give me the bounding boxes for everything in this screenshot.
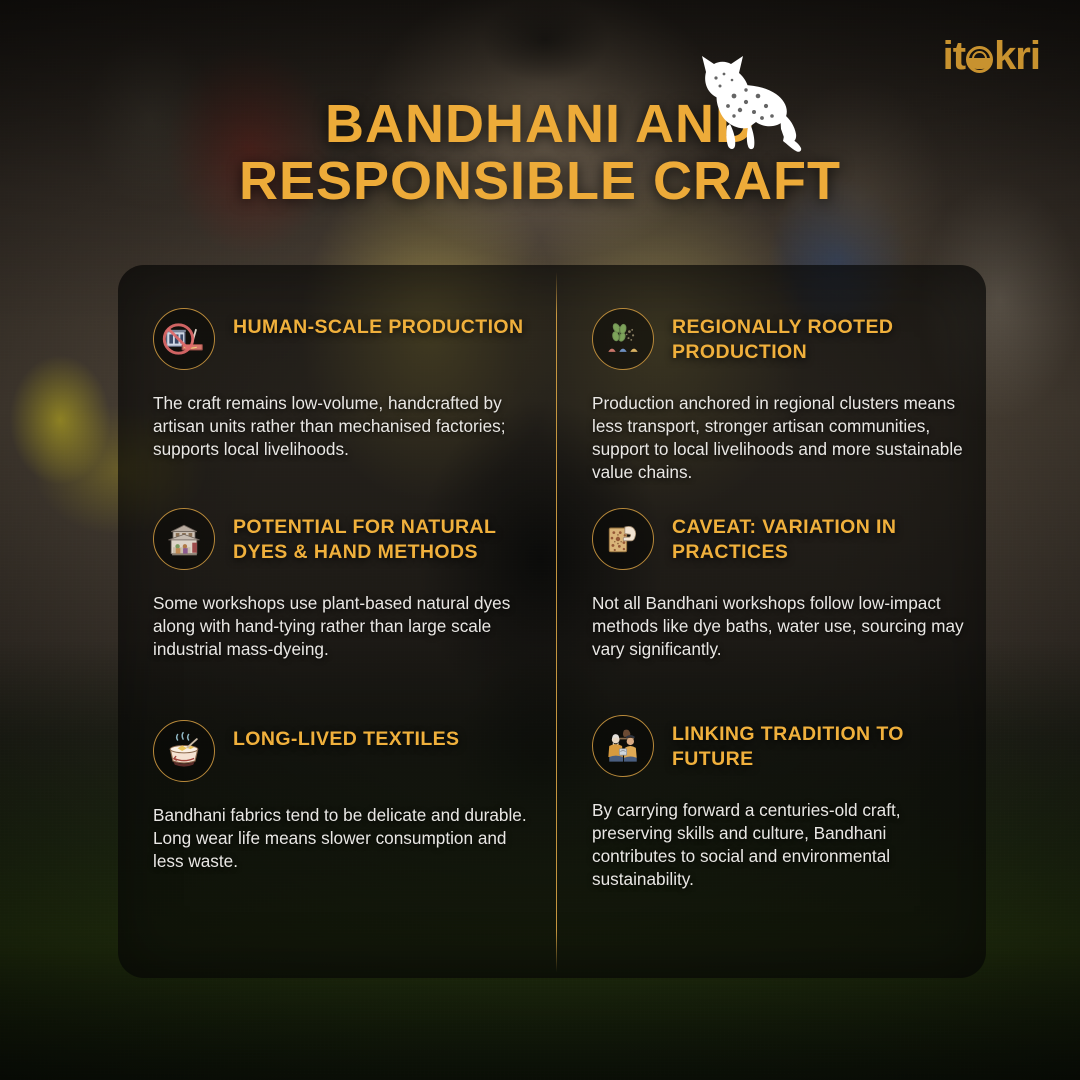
card-caveat-variation-in-practices: CAVEAT: VARIATION IN PRACTICES Not all B… — [556, 473, 986, 681]
title-line-1: BANDHANI AND — [0, 96, 1080, 153]
card-title: LINKING TRADITION TO FUTURE — [672, 715, 986, 771]
brand-logo-text-start: it — [943, 34, 965, 78]
basket-icon — [966, 46, 993, 73]
card-title: CAVEAT: VARIATION IN PRACTICES — [672, 508, 986, 564]
card-title: POTENTIAL FOR NATURAL DYES & HAND METHOD… — [233, 508, 556, 564]
card-body: By carrying forward a centuries-old craf… — [556, 799, 986, 891]
hand-holding-bandhani-fabric-icon — [592, 508, 654, 570]
title-line-2: RESPONSIBLE CRAFT — [0, 153, 1080, 210]
card-header: CAVEAT: VARIATION IN PRACTICES — [556, 508, 986, 570]
brand-logo[interactable]: itkri — [943, 36, 1040, 76]
card-header: LONG-LIVED TEXTILES — [118, 720, 556, 782]
card-body: The craft remains low-volume, handcrafte… — [118, 392, 556, 461]
card-body: Not all Bandhani workshops follow low-im… — [556, 592, 986, 661]
card-body: Some workshops use plant-based natural d… — [118, 592, 556, 661]
card-body: Bandhani fabrics tend to be delicate and… — [118, 804, 556, 873]
page-title: BANDHANI AND RESPONSIBLE CRAFT — [0, 96, 1080, 210]
card-header: REGIONALLY ROOTED PRODUCTION — [556, 308, 986, 370]
cat-illustration-icon — [688, 50, 806, 154]
brand-logo-text-end: kri — [994, 34, 1040, 78]
card-natural-dyes-hand-methods: POTENTIAL FOR NATURAL DYES & HAND METHOD… — [118, 473, 556, 681]
natural-dye-leaves-icon — [592, 308, 654, 370]
card-human-scale-production: HUMAN-SCALE PRODUCTION The craft remains… — [118, 265, 556, 473]
card-title: REGIONALLY ROOTED PRODUCTION — [672, 308, 986, 364]
card-title: HUMAN-SCALE PRODUCTION — [233, 308, 523, 340]
card-linking-tradition-to-future: LINKING TRADITION TO FUTURE By carrying … — [556, 681, 986, 978]
card-header: LINKING TRADITION TO FUTURE — [556, 715, 986, 777]
card-title: LONG-LIVED TEXTILES — [233, 720, 459, 752]
card-long-lived-textiles: LONG-LIVED TEXTILES Bandhani fabrics ten… — [118, 681, 556, 978]
two-artisans-icon — [592, 715, 654, 777]
card-body: Production anchored in regional clusters… — [556, 392, 986, 484]
card-header: POTENTIAL FOR NATURAL DYES & HAND METHOD… — [118, 508, 556, 570]
craft-workshop-building-icon — [153, 508, 215, 570]
no-machine-loom-icon — [153, 308, 215, 370]
benefit-card-grid: HUMAN-SCALE PRODUCTION The craft remains… — [118, 265, 986, 978]
steaming-dye-pot-icon — [153, 720, 215, 782]
card-header: HUMAN-SCALE PRODUCTION — [118, 308, 556, 370]
card-regionally-rooted-production: REGIONALLY ROOTED PRODUCTION Production … — [556, 265, 986, 473]
